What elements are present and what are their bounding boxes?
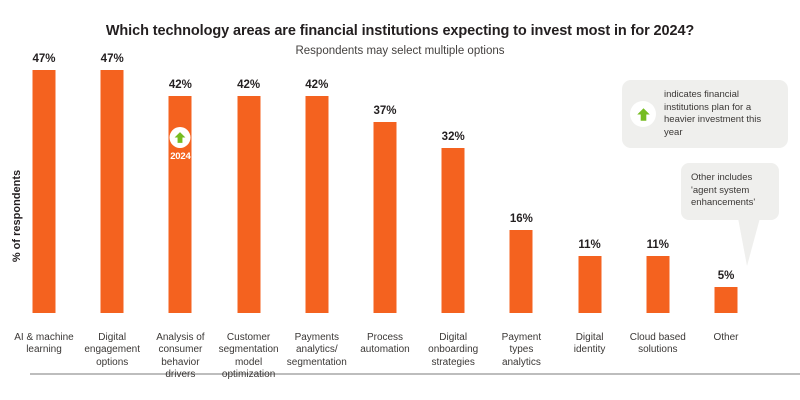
tick-label-line: Payments — [281, 332, 353, 344]
tick-label-line: Customer — [213, 332, 285, 344]
tick-label-line: AI & machine — [8, 332, 80, 344]
tick-label-line: onboarding — [417, 344, 489, 356]
bar-value-label: 11% — [647, 239, 669, 251]
bar[interactable] — [305, 96, 328, 313]
bar-value-label: 11% — [578, 239, 600, 251]
tick-label-line: strategies — [417, 357, 489, 369]
legend-callout: indicates financial institutions plan fo… — [622, 80, 788, 148]
bar-value-label: 42% — [237, 79, 260, 91]
tick-label-line: Analysis of — [144, 332, 216, 344]
callout-line-2: 'agent system — [691, 185, 770, 198]
x-axis-tick-label: Digitalonboardingstrategies — [417, 332, 489, 369]
tick-label-line: drivers — [144, 369, 216, 381]
tick-label-line: learning — [8, 344, 80, 356]
bar-column[interactable]: 42% — [215, 60, 283, 313]
x-axis-tick-label: Digitalengagementoptions — [76, 332, 148, 369]
other-includes-callout: Other includes 'agent system enhancement… — [681, 163, 779, 220]
x-axis-tick-label: Other — [690, 332, 762, 344]
bar-value-label: 32% — [442, 131, 465, 143]
tick-label-line: segmentation — [213, 344, 285, 356]
bar[interactable] — [442, 148, 465, 313]
marker-circle — [170, 127, 191, 148]
x-axis-tick-label: Digitalidentity — [554, 332, 626, 357]
x-axis-tick-label: Cloud basedsolutions — [622, 332, 694, 357]
tick-label-line: analytics — [485, 357, 557, 369]
x-axis-tick-label: Analysis ofconsumerbehaviordrivers — [144, 332, 216, 382]
chart-title: Which technology areas are financial ins… — [0, 22, 800, 40]
bar[interactable] — [237, 96, 260, 313]
tick-label-line: Digital — [554, 332, 626, 344]
tick-label-line: behavior — [144, 357, 216, 369]
tick-label-line: Payment — [485, 332, 557, 344]
bar-value-label: 16% — [510, 213, 533, 225]
x-axis-tick-labels: AI & machinelearningDigitalengagementopt… — [30, 332, 782, 398]
bar[interactable] — [578, 256, 601, 313]
bar-value-label: 42% — [305, 79, 328, 91]
bar-value-label: 47% — [101, 53, 124, 65]
tick-label-line: analytics/ — [281, 344, 353, 356]
callout-line-1: Other includes — [691, 172, 770, 185]
bar-value-label: 37% — [373, 105, 396, 117]
tick-label-line: solutions — [622, 344, 694, 356]
bar[interactable] — [715, 287, 738, 313]
x-axis-tick-label: Processautomation — [349, 332, 421, 357]
bar-column[interactable]: 42%2024 — [146, 60, 214, 313]
callout-line-3: enhancements' — [691, 197, 770, 210]
marker-year-label: 2024 — [169, 151, 192, 162]
tick-label-line: automation — [349, 344, 421, 356]
tick-label-line: identity — [554, 344, 626, 356]
x-axis-tick-label: Paymentsanalytics/segmentation — [281, 332, 353, 369]
tick-label-line: Cloud based — [622, 332, 694, 344]
bar-chart: Which technology areas are financial ins… — [0, 0, 800, 400]
tick-label-line: options — [76, 357, 148, 369]
bar[interactable] — [646, 256, 669, 313]
up-arrow-icon — [636, 107, 651, 122]
x-axis-tick-label: Paymenttypesanalytics — [485, 332, 557, 369]
bar-column[interactable]: 47% — [78, 60, 146, 313]
tick-label-line: model — [213, 357, 285, 369]
legend-line-3: heavier investment this year — [664, 114, 779, 139]
tick-label-line: engagement — [76, 344, 148, 356]
bar-value-label: 42% — [169, 79, 192, 91]
tick-label-line: Digital — [76, 332, 148, 344]
bar-value-label: 47% — [32, 53, 55, 65]
tick-label-line: segmentation — [281, 357, 353, 369]
callout-tail — [738, 218, 764, 266]
bar[interactable] — [33, 70, 56, 313]
bar-value-label: 5% — [718, 270, 735, 282]
bar-column[interactable]: 11% — [556, 60, 624, 313]
bar-column[interactable]: 47% — [10, 60, 78, 313]
x-axis-tick-label: Customersegmentationmodeloptimization — [213, 332, 285, 382]
legend-line-2: institutions plan for a — [664, 102, 779, 115]
tick-label-line: optimization — [213, 369, 285, 381]
bar[interactable] — [101, 70, 124, 313]
x-axis-tick-label: AI & machinelearning — [8, 332, 80, 357]
bar-column[interactable]: 32% — [419, 60, 487, 313]
bar-column[interactable]: 42% — [283, 60, 351, 313]
tick-label-line: Process — [349, 332, 421, 344]
legend-text: indicates financial institutions plan fo… — [664, 89, 779, 139]
bar[interactable] — [510, 230, 533, 313]
tick-label-line: Other — [690, 332, 762, 344]
tick-label-line: Digital — [417, 332, 489, 344]
up-arrow-icon — [174, 131, 187, 144]
legend-line-1: indicates financial — [664, 89, 779, 102]
bar[interactable] — [374, 122, 397, 313]
heavier-investment-marker: 2024 — [169, 127, 192, 162]
bar-column[interactable]: 37% — [351, 60, 419, 313]
bar-column[interactable]: 16% — [487, 60, 555, 313]
tick-label-line: consumer — [144, 344, 216, 356]
legend-arrow-badge — [630, 101, 656, 127]
tick-label-line: types — [485, 344, 557, 356]
